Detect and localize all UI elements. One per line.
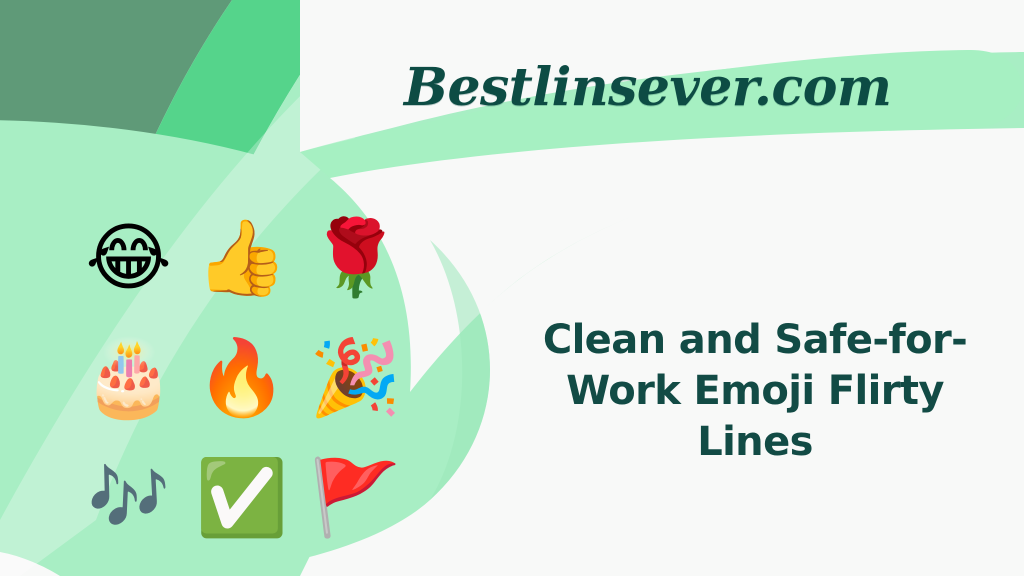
check-mark-button-emoji: ✅ [196,461,288,535]
triangular-flag-emoji: 🚩 [309,461,401,535]
rose-emoji: 🌹 [309,221,401,295]
face-with-tears-of-joy-emoji: 😂 [85,221,171,295]
poster-canvas: Bestlinsever.com 😂 👍 🌹 🎂 🔥 🎉 🎶 ✅ 🚩 Clean… [0,0,1024,576]
birthday-cake-emoji: 🎂 [83,341,175,415]
site-title: Bestlinsever.com [404,46,1004,128]
fire-emoji: 🔥 [196,341,288,415]
page-title: Clean and Safe-for-Work Emoji Flirty Lin… [520,315,990,469]
emoji-grid: 😂 👍 🌹 🎂 🔥 🎉 🎶 ✅ 🚩 [72,198,412,558]
thumbs-up-emoji: 👍 [196,221,288,295]
musical-notes-emoji: 🎶 [88,465,170,531]
party-popper-emoji: 🎉 [309,341,401,415]
